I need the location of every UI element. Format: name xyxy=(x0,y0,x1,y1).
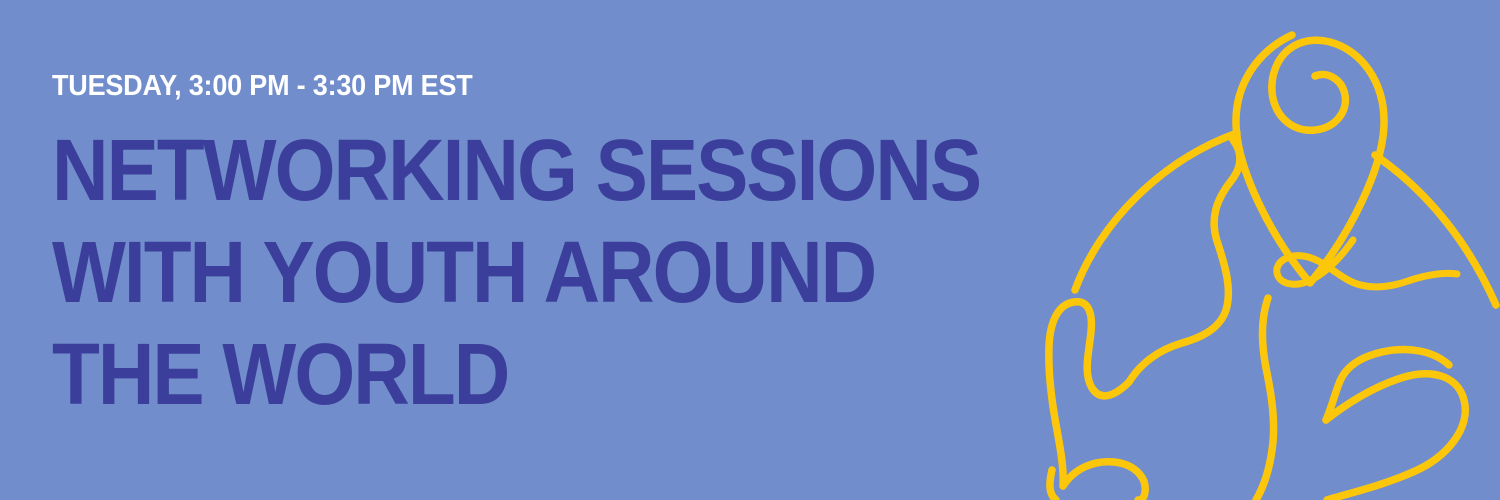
continent-line-north-icon xyxy=(1129,140,1240,382)
map-pin-icon xyxy=(1236,35,1384,283)
headline-line-2: WITH YOUTH AROUND xyxy=(52,222,970,324)
page-title: NETWORKING SESSIONS WITH YOUTH AROUND TH… xyxy=(52,120,1072,426)
event-time-eyebrow: TUESDAY, 3:00 PM - 3:30 PM EST xyxy=(52,66,1001,106)
continent-line-east-upper-icon xyxy=(1326,350,1449,420)
globe-arc-right-icon xyxy=(1375,155,1496,305)
promo-banner: TUESDAY, 3:00 PM - 3:30 PM EST NETWORKIN… xyxy=(0,0,1500,500)
continent-line-east-icon xyxy=(1326,374,1465,500)
headline-line-1: NETWORKING SESSIONS xyxy=(52,120,970,222)
headline-line-3: THE WORLD xyxy=(52,324,970,426)
globe-arc-top-left-icon xyxy=(1075,133,1237,290)
globe-arc-bottom-left-icon xyxy=(1050,470,1056,500)
loop-flourish-icon xyxy=(1277,240,1457,287)
continent-line-south-icon xyxy=(1256,298,1274,500)
continent-line-west-lower-icon xyxy=(1063,462,1145,500)
banner-text-block: TUESDAY, 3:00 PM - 3:30 PM EST NETWORKIN… xyxy=(52,66,1072,426)
globe-illustration xyxy=(1030,0,1500,500)
